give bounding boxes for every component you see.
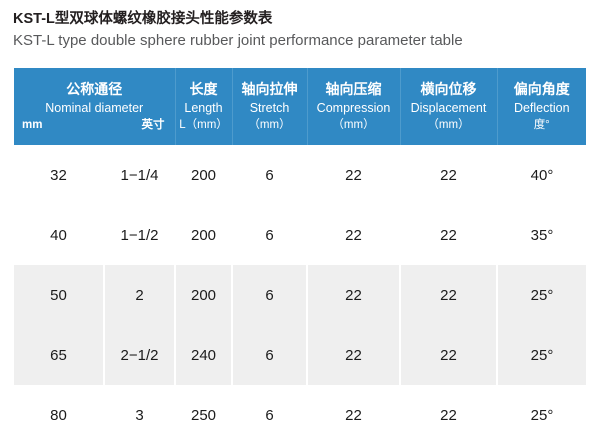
header-en-deflection: Deflection [514, 99, 570, 117]
table-row: 80 3 250 6 22 22 25° [14, 385, 586, 445]
header-unit-nominal-diameter: mm 英寸 [16, 117, 173, 134]
header-cn-nominal-diameter: 公称通径 [66, 79, 122, 99]
header-unit-compression: （mm） [332, 117, 374, 134]
header-unit-displacement: （mm） [427, 117, 469, 134]
cell-displacement: 22 [400, 145, 497, 205]
cell-length: 200 [175, 145, 232, 205]
header-unit-mm: mm [22, 117, 42, 134]
header-cn-stretch: 轴向拉伸 [242, 79, 298, 99]
header-en-displacement: Displacement [411, 99, 487, 117]
cell-compression: 22 [307, 385, 400, 445]
cell-compression: 22 [307, 265, 400, 325]
cell-nominal-mm: 40 [14, 205, 104, 265]
cell-displacement: 22 [400, 325, 497, 385]
cell-stretch: 6 [232, 385, 307, 445]
header-en-compression: Compression [317, 99, 391, 117]
header-cell-deflection: 偏向角度 Deflection 度° [497, 68, 586, 145]
page-title-en: KST-L type double sphere rubber joint pe… [13, 30, 588, 52]
table-row: 65 2−1/2 240 6 22 22 25° [14, 325, 586, 385]
cell-stretch: 6 [232, 205, 307, 265]
header-unit-stretch: （mm） [248, 117, 290, 134]
header-cn-displacement: 横向位移 [421, 79, 477, 99]
table-body: 32 1−1/4 200 6 22 22 40° 40 1−1/2 200 6 … [14, 145, 586, 445]
header-unit-deflection: 度° [534, 117, 550, 134]
header-cell-length: 长度 Length L（mm） [175, 68, 232, 145]
cell-length: 200 [175, 265, 232, 325]
table-row: 50 2 200 6 22 22 25° [14, 265, 586, 325]
header-cn-length: 长度 [190, 79, 218, 99]
header-cn-compression: 轴向压缩 [326, 79, 382, 99]
header-cell-stretch: 轴向拉伸 Stretch （mm） [232, 68, 307, 145]
header-en-nominal-diameter: Nominal diameter [45, 99, 143, 117]
spec-table: 公称通径 Nominal diameter mm 英寸 长度 Length [14, 68, 586, 445]
page-title-cn: KST-L型双球体螺纹橡胶接头性能参数表 [13, 9, 588, 29]
header-row: 公称通径 Nominal diameter mm 英寸 长度 Length [14, 68, 586, 145]
cell-deflection: 35° [497, 205, 586, 265]
cell-nominal-inch: 1−1/4 [104, 145, 175, 205]
cell-deflection: 25° [497, 265, 586, 325]
cell-compression: 22 [307, 145, 400, 205]
spec-table-wrapper: 公称通径 Nominal diameter mm 英寸 长度 Length [14, 68, 586, 445]
cell-stretch: 6 [232, 265, 307, 325]
cell-deflection: 25° [497, 385, 586, 445]
cell-stretch: 6 [232, 325, 307, 385]
spec-table-page: KST-L型双球体螺纹橡胶接头性能参数表 KST-L type double s… [0, 0, 600, 436]
cell-length: 240 [175, 325, 232, 385]
cell-length: 200 [175, 205, 232, 265]
title-block: KST-L型双球体螺纹橡胶接头性能参数表 KST-L type double s… [13, 9, 588, 52]
header-unit-inch: 英寸 [142, 117, 165, 134]
cell-compression: 22 [307, 205, 400, 265]
cell-displacement: 22 [400, 385, 497, 445]
header-cell-compression: 轴向压缩 Compression （mm） [307, 68, 400, 145]
cell-displacement: 22 [400, 205, 497, 265]
cell-nominal-mm: 50 [14, 265, 104, 325]
cell-nominal-inch: 2 [104, 265, 175, 325]
table-row: 32 1−1/4 200 6 22 22 40° [14, 145, 586, 205]
header-cell-nominal-diameter: 公称通径 Nominal diameter mm 英寸 [14, 68, 175, 145]
cell-displacement: 22 [400, 265, 497, 325]
cell-deflection: 25° [497, 325, 586, 385]
header-en-length: Length [184, 99, 222, 117]
cell-stretch: 6 [232, 145, 307, 205]
header-unit-length: L（mm） [179, 117, 228, 134]
header-cell-displacement: 横向位移 Displacement （mm） [400, 68, 497, 145]
cell-nominal-mm: 32 [14, 145, 104, 205]
cell-nominal-mm: 80 [14, 385, 104, 445]
cell-length: 250 [175, 385, 232, 445]
header-cn-deflection: 偏向角度 [514, 79, 570, 99]
cell-compression: 22 [307, 325, 400, 385]
header-en-stretch: Stretch [250, 99, 290, 117]
cell-nominal-mm: 65 [14, 325, 104, 385]
table-row: 40 1−1/2 200 6 22 22 35° [14, 205, 586, 265]
cell-nominal-inch: 1−1/2 [104, 205, 175, 265]
table-header: 公称通径 Nominal diameter mm 英寸 长度 Length [14, 68, 586, 145]
cell-nominal-inch: 3 [104, 385, 175, 445]
cell-nominal-inch: 2−1/2 [104, 325, 175, 385]
cell-deflection: 40° [497, 145, 586, 205]
